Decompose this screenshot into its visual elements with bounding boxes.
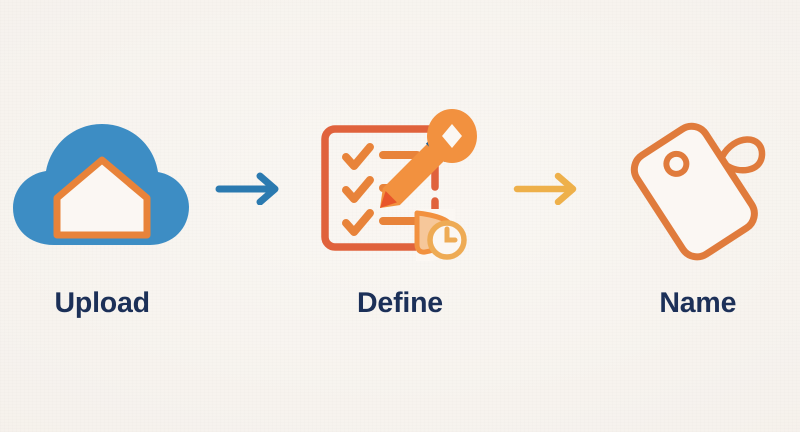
flow-diagram: Upload xyxy=(0,0,800,432)
arrow-define-to-name xyxy=(502,103,595,273)
step-label-define: Define xyxy=(357,289,443,318)
flow-step-name[interactable]: Name xyxy=(596,103,800,318)
flow-step-upload[interactable]: Upload xyxy=(0,103,204,318)
checkmark-group xyxy=(346,147,370,232)
checklist-pencil-icon xyxy=(313,105,488,270)
flow-step-define[interactable]: Define xyxy=(298,103,502,318)
define-icon-wrapper xyxy=(313,103,488,273)
arrow-upload-to-define xyxy=(204,103,297,273)
name-icon-wrapper xyxy=(618,103,778,273)
step-label-upload: Upload xyxy=(54,289,149,318)
step-label-name: Name xyxy=(659,289,736,318)
flow-row: Upload xyxy=(0,103,800,318)
upload-icon-wrapper xyxy=(7,103,197,273)
price-tag-icon xyxy=(618,110,778,265)
page-curl-clock xyxy=(416,209,464,261)
cloud-house-icon xyxy=(7,113,197,263)
pencil-gem-cap xyxy=(427,109,477,163)
tag-string-loop xyxy=(722,140,762,171)
